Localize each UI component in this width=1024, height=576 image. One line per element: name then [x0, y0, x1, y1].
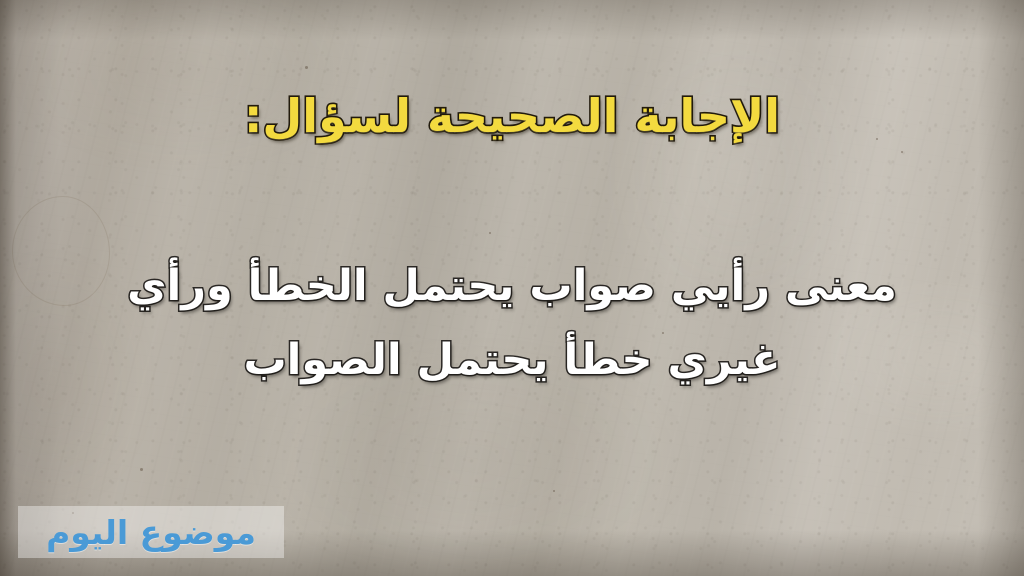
site-watermark: موضوع اليوم [18, 506, 284, 558]
answer-line: غيري خطأ يحتمل الصواب [0, 324, 1024, 398]
page-title: الإجابة الصحيحة لسؤال: [0, 88, 1024, 146]
answer-card-canvas: الإجابة الصحيحة لسؤال: معنى رأيي صواب يح… [0, 0, 1024, 576]
watermark-label: موضوع اليوم [46, 516, 256, 549]
answer-line: معنى رأيي صواب يحتمل الخطأ ورأي [0, 250, 1024, 324]
text-content-layer: الإجابة الصحيحة لسؤال: معنى رأيي صواب يح… [0, 0, 1024, 576]
answer-text-block: معنى رأيي صواب يحتمل الخطأ ورأي غيري خطأ… [0, 250, 1024, 398]
